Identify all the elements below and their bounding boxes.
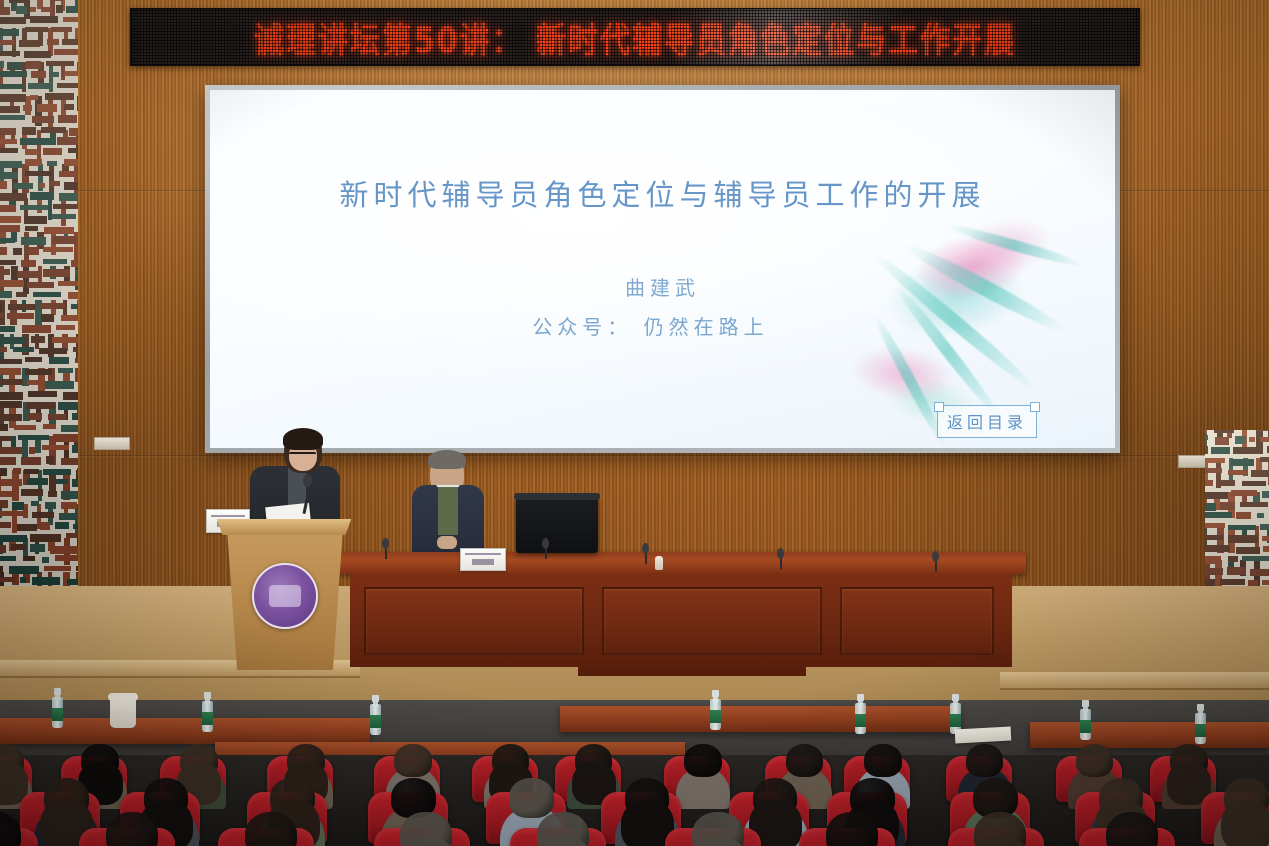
table-nameplate	[460, 548, 506, 571]
lattice-brick	[71, 260, 78, 267]
projection-screen-frame: 新时代辅导员角色定位与辅导员工作的开展 曲建武 公众号： 仍然在路上 返回目录	[205, 85, 1120, 453]
lattice-brick	[44, 566, 71, 571]
slide-author: 曲建武	[625, 272, 700, 301]
lattice-brick	[43, 269, 70, 277]
wall-seam	[0, 455, 1269, 457]
lattice-brick	[1240, 502, 1268, 507]
lattice-brick	[1205, 523, 1225, 528]
lattice-brick	[37, 130, 41, 160]
lattice-brick	[24, 469, 39, 474]
lattice-brick	[43, 469, 71, 475]
lattice-brick	[1205, 556, 1221, 564]
water-bottle	[710, 690, 721, 730]
lattice-brick	[0, 359, 22, 364]
lattice-brick	[49, 164, 54, 195]
lattice-brick	[0, 181, 7, 189]
lattice-brick	[73, 524, 78, 529]
lattice-brick	[1205, 545, 1230, 552]
lattice-brick	[68, 148, 78, 153]
lattice-brick	[17, 524, 37, 531]
lattice-brick	[1205, 458, 1225, 463]
bottle-cap	[952, 694, 959, 701]
lattice-brick	[63, 392, 78, 400]
wall-outlet-plate-left	[94, 437, 130, 450]
lattice-brick	[16, 6, 27, 14]
lattice-brick	[1228, 525, 1256, 530]
lattice-brick	[64, 104, 74, 110]
tea-mug	[110, 698, 136, 728]
slide-account-line: 公众号： 仍然在路上	[532, 311, 768, 340]
lattice-brick	[9, 566, 39, 574]
lattice-brick	[66, 6, 78, 13]
lattice-brick	[52, 337, 78, 343]
mug-lid	[108, 693, 138, 701]
lattice-brick	[1250, 569, 1269, 576]
lattice-brick	[0, 193, 27, 201]
lattice-brick	[1262, 491, 1269, 498]
audience-member-head	[1076, 744, 1113, 777]
lattice-brick	[59, 513, 78, 520]
lattice-brick	[0, 225, 20, 232]
nameplate-text-line	[465, 553, 500, 555]
lattice-brick	[58, 281, 78, 286]
lattice-brick	[38, 470, 42, 501]
lattice-brick	[61, 198, 66, 226]
lattice-brick	[76, 566, 78, 571]
lattice-brick	[19, 40, 40, 47]
lattice-brick	[0, 545, 6, 553]
lattice-brick	[30, 95, 38, 100]
lattice-brick	[45, 381, 74, 389]
lattice-brick	[67, 579, 78, 585]
lattice-brick	[53, 204, 78, 209]
lattice-brick	[12, 502, 24, 510]
lattice-brick	[48, 491, 57, 497]
lattice-brick	[64, 182, 78, 190]
projection-screen: 新时代辅导员角色定位与辅导员工作的开展 曲建武 公众号： 仍然在路上 返回目录	[210, 90, 1115, 448]
lattice-brick	[1205, 446, 1208, 454]
lattice-brick	[31, 501, 39, 506]
lattice-brick	[69, 128, 78, 136]
lattice-brick	[41, 314, 54, 322]
monitor-bezel	[514, 493, 600, 500]
bottle-label	[1080, 720, 1091, 733]
lattice-brick	[41, 127, 66, 133]
lattice-brick	[13, 347, 34, 352]
lattice-brick	[58, 402, 78, 410]
lattice-brick	[77, 96, 78, 111]
lattice-brick	[25, 171, 52, 176]
lattice-brick	[0, 337, 26, 344]
audience-member-head	[509, 778, 554, 818]
led-banner-text: 诚理讲坛第50讲： 新时代辅导员角色定位与工作开展	[131, 8, 1139, 66]
lattice-brick	[0, 436, 11, 441]
lattice-brick	[0, 280, 24, 287]
lattice-brick	[1211, 447, 1230, 454]
lattice-brick	[0, 172, 18, 179]
lattice-brick	[0, 577, 15, 582]
lattice-brick	[0, 51, 20, 56]
lattice-brick	[1205, 430, 1207, 433]
lattice-brick	[59, 193, 78, 201]
bottle-label	[855, 714, 866, 727]
lattice-brick	[46, 61, 74, 66]
lattice-brick	[39, 183, 45, 188]
lattice-brick	[13, 468, 21, 474]
lattice-brick	[0, 447, 22, 454]
lattice-brick	[31, 71, 46, 78]
bottle-label	[950, 714, 961, 727]
lattice-brick	[43, 148, 62, 155]
lattice-brick	[14, 425, 36, 430]
university-crest-icon	[252, 563, 318, 629]
lattice-brick	[16, 292, 27, 297]
bottle-cap	[1082, 700, 1089, 707]
lattice-brick	[39, 348, 67, 354]
lattice-brick	[0, 491, 14, 497]
lattice-brick	[75, 270, 78, 275]
lattice-brick	[25, 357, 42, 362]
water-bottle	[52, 688, 63, 728]
lattice-brick	[17, 271, 40, 278]
lattice-brick	[43, 424, 56, 429]
lattice-brick	[1216, 480, 1235, 486]
lattice-brick	[9, 0, 29, 3]
lattice-brick	[1220, 502, 1235, 510]
lattice-brick	[75, 368, 78, 382]
return-to-contents-button[interactable]: 返回目录	[937, 405, 1037, 438]
audience-member-head	[394, 744, 431, 777]
speaker-glasses	[289, 452, 316, 461]
lattice-brick	[61, 425, 78, 432]
table-top	[336, 552, 1026, 574]
lattice-brick	[56, 5, 63, 13]
audience-member-head	[864, 744, 901, 777]
lattice-brick	[1242, 556, 1269, 561]
lattice-brick	[30, 16, 58, 23]
lattice-brick	[47, 39, 59, 45]
nameplate-text-line	[472, 559, 493, 565]
led-banner: 诚理讲坛第50讲： 新时代辅导员角色定位与工作开展	[130, 8, 1140, 66]
microphone-head	[542, 538, 549, 549]
lattice-brick	[61, 502, 77, 509]
lattice-brick	[57, 137, 78, 145]
lattice-brick	[0, 128, 16, 135]
lattice-brick	[0, 468, 7, 476]
audience-desk-ledge	[560, 706, 960, 732]
lattice-brick	[1231, 459, 1254, 466]
lattice-brick	[0, 238, 15, 243]
lattice-brick	[0, 260, 16, 265]
lattice-brick	[42, 445, 69, 450]
lattice-brick	[0, 247, 7, 255]
slide-content: 新时代辅导员角色定位与辅导员工作的开展 曲建武 公众号： 仍然在路上	[210, 90, 1115, 448]
nameplate-text-line	[211, 515, 245, 517]
lattice-brick	[0, 115, 25, 120]
head-table	[336, 552, 1026, 667]
lecture-hall-photo: 诚理讲坛第50讲： 新时代辅导员角色定位与工作开展 新时代辅导员角色定位与辅导员…	[0, 0, 1269, 846]
water-bottle	[950, 694, 961, 734]
lattice-brick	[44, 227, 74, 234]
guest-hair	[428, 450, 466, 469]
lattice-brick	[0, 347, 7, 352]
bottle-label	[1195, 724, 1206, 737]
audience-member-head	[786, 744, 823, 777]
lattice-brick	[0, 511, 27, 516]
lattice-brick	[1227, 567, 1246, 575]
slide-title: 新时代辅导员角色定位与辅导员工作的开展	[339, 172, 985, 214]
lattice-brick	[23, 556, 35, 561]
table-panel	[602, 587, 822, 655]
lattice-brick	[75, 358, 78, 363]
lattice-brick	[1231, 490, 1257, 496]
lattice-brick	[0, 392, 23, 400]
lattice-brick	[49, 181, 60, 186]
lattice-brick	[72, 413, 78, 420]
lattice-brick	[0, 304, 2, 312]
lattice-brick	[0, 40, 15, 45]
microphone-head	[642, 543, 649, 554]
lattice-brick	[0, 379, 23, 385]
lattice-brick	[22, 325, 51, 333]
water-bottle	[1080, 700, 1091, 740]
lattice-brick	[55, 555, 78, 561]
lattice-brick	[0, 29, 19, 36]
lattice-brick	[52, 0, 63, 1]
lattice-brick	[0, 500, 8, 508]
lattice-brick	[1233, 447, 1263, 454]
lattice-brick	[31, 336, 45, 343]
lattice-brick	[0, 326, 15, 332]
lattice-brick	[25, 149, 38, 155]
lattice-brick	[43, 247, 73, 252]
lattice-brick	[7, 62, 22, 70]
lattice-brick	[18, 435, 49, 440]
lattice-brick	[0, 94, 26, 102]
water-bottle	[1195, 704, 1206, 744]
lattice-brick	[1205, 535, 1223, 540]
lattice-brick	[0, 269, 10, 275]
lattice-brick	[1205, 492, 1228, 499]
crest-inner	[269, 585, 301, 607]
lattice-brick	[0, 7, 10, 15]
lattice-brick	[0, 414, 22, 421]
lattice-brick	[11, 544, 26, 550]
lattice-brick	[63, 17, 78, 22]
lattice-brick	[30, 192, 54, 200]
lattice-brick	[27, 380, 39, 385]
lattice-brick	[1205, 480, 1213, 486]
table-figurine	[655, 556, 663, 570]
lattice-brick	[73, 347, 78, 352]
lattice-brick	[1242, 481, 1266, 486]
lattice-brick	[1214, 430, 1234, 433]
lattice-brick	[58, 115, 77, 123]
microphone-head	[382, 538, 389, 549]
lectern-top	[214, 519, 354, 535]
lattice-brick	[1236, 547, 1260, 554]
lattice-brick	[21, 489, 43, 496]
bottle-label	[710, 710, 721, 723]
lattice-brick	[1236, 512, 1251, 519]
lattice-brick	[45, 93, 74, 100]
lattice-brick	[20, 205, 48, 210]
audience-member-head	[684, 744, 721, 777]
lattice-brick	[0, 535, 27, 542]
lattice-brick	[0, 205, 16, 212]
water-bottle	[370, 695, 381, 735]
lattice-brick	[0, 424, 8, 431]
lattice-brick	[1235, 436, 1246, 444]
lattice-brick	[32, 116, 54, 123]
lattice-brick	[0, 216, 21, 223]
presenter-monitor	[516, 497, 598, 553]
bottle-cap	[1197, 704, 1204, 711]
lattice-brick	[52, 214, 76, 219]
lattice-brick	[55, 479, 68, 484]
lattice-brick	[39, 303, 65, 309]
lattice-brick	[0, 522, 11, 528]
lattice-brick	[45, 502, 56, 509]
lattice-brick	[47, 161, 57, 166]
lattice-brick	[1262, 536, 1269, 541]
lattice-brick	[56, 325, 75, 330]
lattice-brick	[28, 391, 57, 397]
lattice-brick	[1205, 568, 1223, 575]
lattice-brick	[0, 61, 4, 68]
lattice-brick	[66, 533, 78, 538]
lattice-brick	[54, 49, 78, 55]
lattice-brick	[61, 458, 78, 465]
table-front	[350, 573, 1012, 667]
lattice-brick	[25, 369, 52, 375]
bottle-label	[370, 715, 381, 728]
lattice-brick	[61, 315, 78, 321]
lattice-brick	[0, 139, 17, 144]
lattice-brick	[72, 445, 78, 453]
lattice-brick	[64, 159, 78, 166]
bottle-cap	[712, 690, 719, 697]
lattice-brick	[1220, 579, 1245, 585]
lattice-brick	[8, 304, 36, 310]
lattice-brick	[21, 457, 41, 465]
lattice-brick	[50, 546, 78, 554]
lattice-brick	[42, 557, 49, 563]
lattice-brick	[49, 357, 69, 364]
lattice-brick	[1249, 437, 1255, 442]
microphone-head	[932, 551, 939, 562]
lattice-brick	[52, 236, 77, 244]
bottle-label	[52, 708, 63, 721]
lattice-brick	[26, 402, 55, 409]
lattice-brick	[0, 148, 18, 153]
lattice-brick	[1260, 524, 1269, 530]
lattice-brick	[33, 292, 61, 297]
lattice-brick	[0, 161, 22, 168]
lattice-brick	[64, 71, 78, 76]
stage-step	[1000, 672, 1269, 690]
lattice-brick	[20, 138, 51, 145]
lattice-brick	[0, 479, 22, 486]
lattice-brick	[0, 106, 20, 113]
bottle-cap	[204, 692, 211, 699]
lattice-brick	[28, 413, 42, 420]
lattice-brick	[0, 84, 24, 89]
lattice-brick	[13, 248, 22, 255]
lattice-brick	[41, 7, 51, 12]
lattice-brick	[23, 105, 32, 111]
lattice-brick	[61, 491, 78, 499]
lattice-brick	[32, 577, 60, 585]
lattice-brick	[46, 456, 54, 464]
lattice-brick	[72, 479, 78, 487]
guest-hands	[437, 536, 457, 549]
lattice-brick	[24, 216, 47, 224]
lattice-brick	[1228, 470, 1247, 475]
lattice-brick	[30, 544, 45, 552]
lattice-brick	[40, 522, 50, 530]
lattice-brick	[22, 127, 36, 135]
lattice-brick	[53, 434, 78, 442]
lattice-brick	[1205, 435, 1208, 440]
bottle-cap	[54, 688, 61, 695]
lattice-brick	[52, 72, 59, 77]
lattice-brick	[25, 27, 48, 32]
lattice-brick	[7, 313, 34, 319]
lattice-brick	[1251, 470, 1269, 477]
bottle-cap	[372, 695, 379, 702]
lattice-brick	[21, 237, 46, 245]
lattice-brick	[59, 171, 78, 177]
audience-member-head	[826, 812, 878, 846]
lattice-brick	[26, 61, 41, 69]
lattice-brick	[58, 368, 73, 373]
audience-member-head	[966, 744, 1003, 777]
lattice-brick	[1263, 546, 1269, 552]
lattice-brick	[1205, 503, 1216, 511]
table-panel	[840, 587, 994, 655]
lattice-brick	[0, 566, 3, 572]
bottle-cap	[857, 694, 864, 701]
lattice-brick	[1215, 437, 1229, 445]
lattice-brick	[13, 183, 33, 189]
lattice-brick	[68, 292, 78, 299]
lattice-brick	[1257, 513, 1264, 518]
lattice-brick	[0, 313, 4, 318]
water-bottle	[855, 694, 866, 734]
lattice-brick	[51, 27, 72, 32]
lattice-brick	[1262, 580, 1269, 585]
lattice-brick	[0, 291, 12, 298]
lattice-brick	[43, 259, 67, 264]
lattice-brick	[20, 577, 26, 583]
lattice-brick	[71, 304, 78, 309]
table-panel	[364, 587, 584, 655]
guest-sweater	[438, 487, 458, 535]
lattice-brick	[1260, 437, 1269, 442]
lattice-brick	[0, 457, 16, 465]
lattice-brick	[0, 401, 22, 408]
lattice-brick	[1228, 535, 1258, 543]
podium-microphone-head	[303, 474, 312, 487]
lattice-brick	[1260, 457, 1269, 462]
lattice-brick	[57, 83, 78, 88]
audience-member-hair	[1221, 800, 1269, 846]
lattice-brick	[1228, 556, 1238, 562]
lattice-brick	[27, 282, 54, 288]
lattice-brick	[75, 28, 78, 39]
microphone-head	[777, 548, 784, 559]
